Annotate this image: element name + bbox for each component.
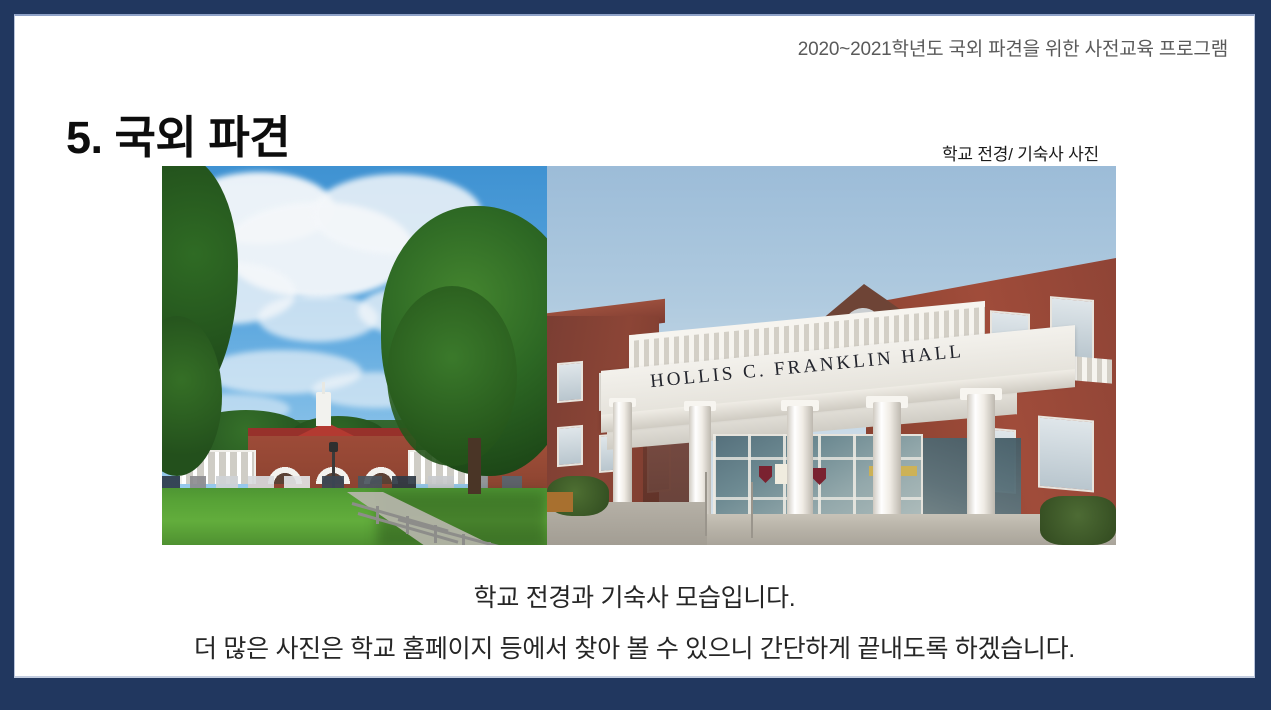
campus-panorama-photo — [162, 166, 547, 545]
large-foreground-tree — [387, 286, 517, 466]
entry-handrail — [705, 472, 707, 536]
photo-strip: HOLLIS C. FRANKLIN HALL — [162, 166, 1116, 545]
entry-handrail — [751, 482, 753, 538]
page-title: 5. 국외 파견 — [66, 101, 290, 166]
window — [557, 361, 583, 403]
slide-content-area: 2020~2021학년도 국외 파견을 위한 사전교육 프로그램 5. 국외 파… — [14, 14, 1255, 678]
shrub — [1040, 496, 1116, 545]
body-text-line-2: 더 많은 사진은 학교 홈페이지 등에서 찾아 볼 수 있으니 간단하게 끝내도… — [15, 629, 1254, 665]
handrail-post — [376, 506, 379, 524]
tree-trunk — [468, 438, 481, 494]
body-text-line-1: 학교 전경과 기숙사 모습입니다. — [15, 578, 1254, 614]
lamp-head — [329, 442, 338, 452]
dormitory-photo: HOLLIS C. FRANKLIN HALL — [547, 166, 1116, 545]
photo-caption-label: 학교 전경/ 기숙사 사진 — [942, 140, 1099, 165]
bench — [547, 492, 573, 512]
cupola-spire — [322, 382, 325, 394]
slide-header-text: 2020~2021학년도 국외 파견을 위한 사전교육 프로그램 — [798, 34, 1228, 61]
handrail-post — [434, 525, 437, 543]
handrail-post — [488, 542, 491, 545]
slide-frame: 2020~2021학년도 국외 파견을 위한 사전교육 프로그램 5. 국외 파… — [0, 0, 1271, 710]
handrail-post — [462, 534, 465, 545]
handrail-post — [406, 516, 409, 534]
window — [557, 425, 583, 467]
window — [1038, 416, 1094, 493]
building-cupola — [316, 392, 331, 426]
